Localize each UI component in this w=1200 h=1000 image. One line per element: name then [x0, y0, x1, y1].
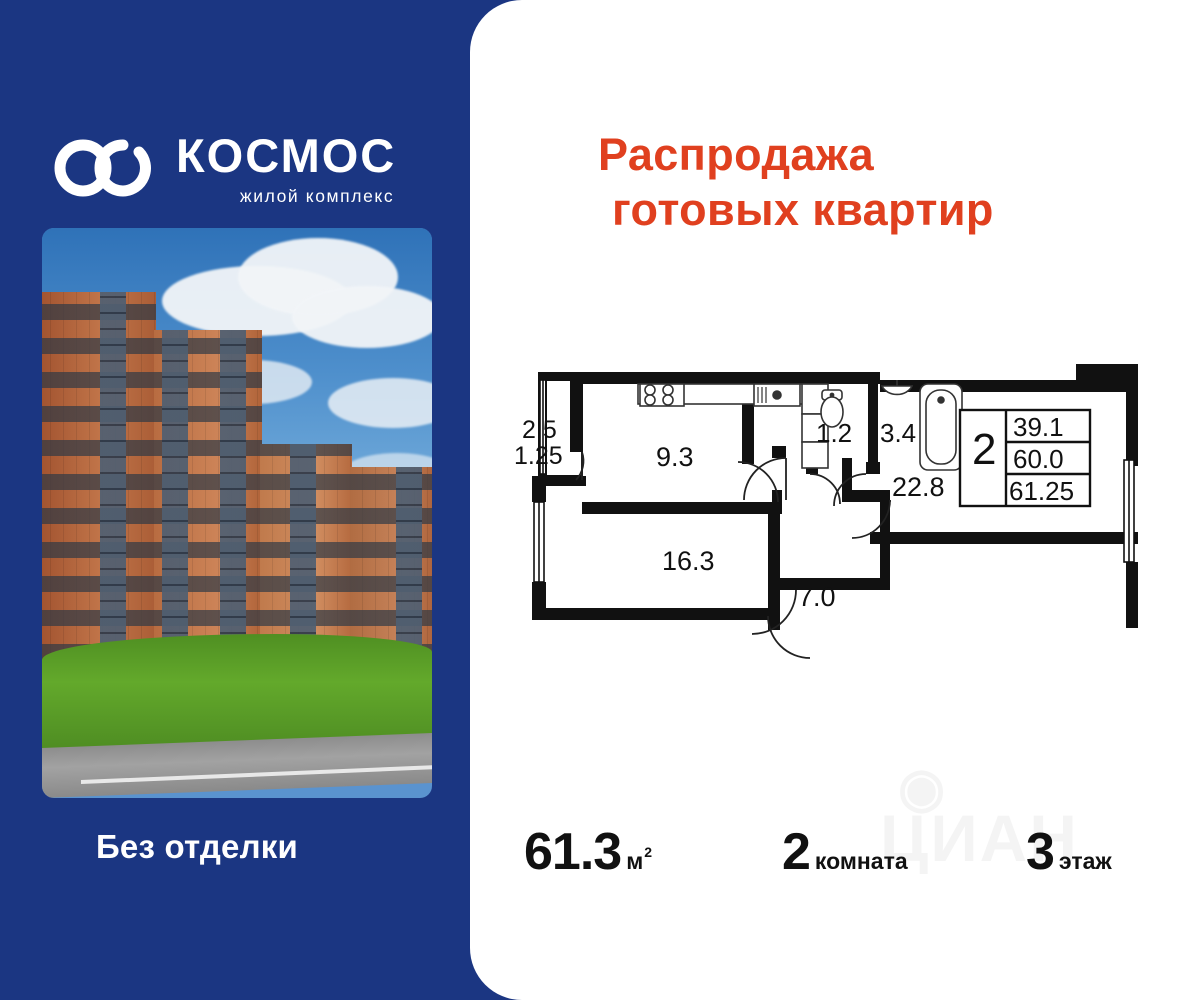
brand-title: КОСМОС [176, 132, 396, 179]
stat-area-value: 61.3 [524, 822, 621, 882]
spec-total-area: 61.25 [1009, 476, 1074, 507]
room-label-living-room: 22.8 [892, 472, 945, 503]
room-label-balcony-bottom: 1.25 [514, 442, 563, 471]
room-label-kitchen: 9.3 [656, 442, 694, 473]
photo-caption: Без отделки [96, 828, 298, 866]
advertisement-card: КОСМОС жилой комплекс [0, 0, 1200, 1000]
room-label-bathroom: 3.4 [880, 418, 916, 449]
stat-area-unit: м [626, 848, 643, 875]
headline-line-1: Распродажа [598, 129, 874, 180]
room-label-wc: 1.2 [816, 418, 852, 449]
stat-area-superscript: 2 [644, 844, 652, 860]
room-label-bedroom: 16.3 [662, 546, 715, 577]
stat-floor-value: 3 [1026, 822, 1054, 882]
stat-floor-unit: этаж [1059, 848, 1112, 875]
page-title: Распродажа готовых квартир [598, 128, 1118, 238]
infinity-icon [52, 135, 160, 201]
brand-logo: КОСМОС жилой комплекс [52, 122, 452, 214]
spec-living-area: 39.1 [1013, 412, 1064, 443]
stat-rooms-value: 2 [782, 822, 810, 882]
apartment-stats: 61.3 м 2 2 комната 3 этаж [520, 818, 1180, 892]
room-label-balcony-top: 2.5 [522, 416, 557, 445]
brand-text: КОСМОС жилой комплекс [176, 130, 396, 206]
headline-line-2: готовых квартир [598, 183, 1118, 238]
cloud [292, 286, 432, 348]
building-photo [42, 228, 432, 798]
brand-subtitle: жилой комплекс [176, 188, 396, 206]
spec-rooms-count: 2 [972, 428, 996, 472]
stat-rooms-unit: комната [815, 848, 908, 875]
floor-plan: 2.5 1.25 9.3 1.2 3.4 22.8 16.3 7.0 2 39.… [510, 350, 1170, 690]
stat-floor: 3 этаж [1026, 822, 1112, 882]
stat-rooms: 2 комната [782, 822, 908, 882]
spec-area-without-balcony: 60.0 [1013, 444, 1064, 475]
room-label-hallway: 7.0 [798, 582, 836, 613]
stat-area: 61.3 м 2 [524, 822, 651, 882]
